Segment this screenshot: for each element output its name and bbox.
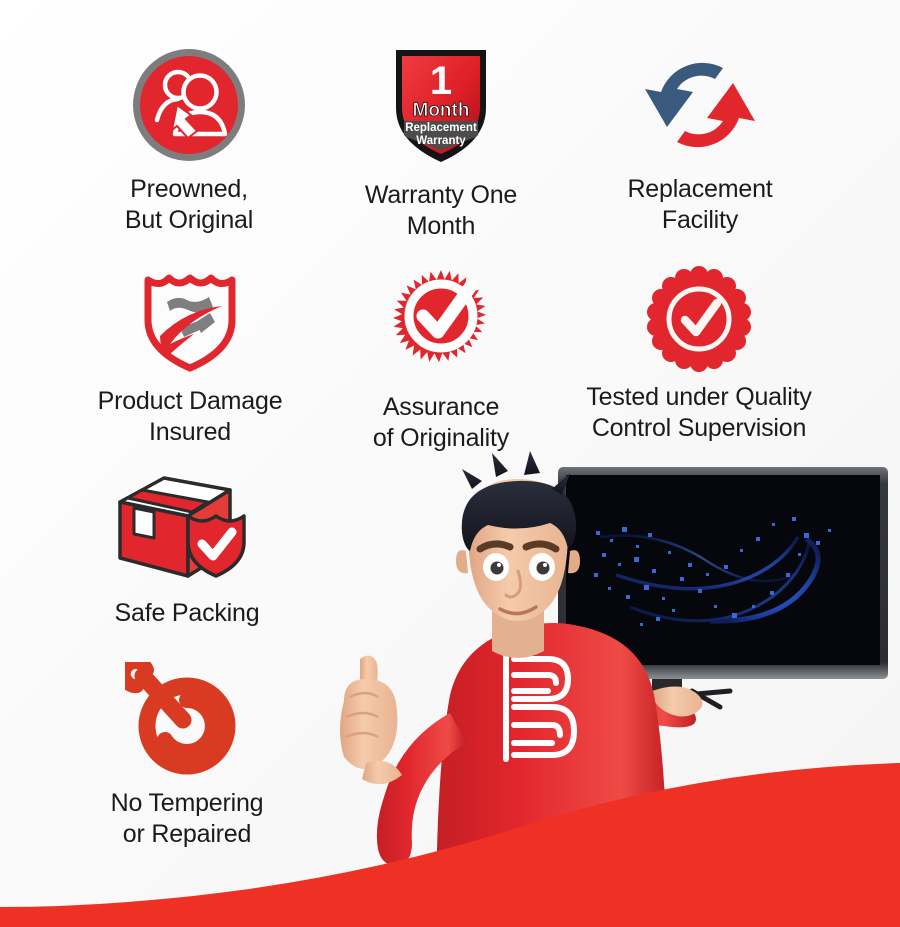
feature-tested: Tested under Quality Control Supervision — [572, 266, 826, 444]
infographic-poster: Preowned, But Original 1 Mont — [0, 0, 900, 927]
warranty-line1: Replacement — [405, 122, 477, 134]
warranty-line2: Warranty — [416, 135, 466, 147]
box-shield-check-icon — [112, 472, 262, 588]
feature-packing: Safe Packing — [84, 472, 290, 629]
feature-label: Safe Packing — [115, 598, 260, 629]
feature-label: Replacement Facility — [627, 174, 772, 236]
feature-label: Preowned, But Original — [125, 174, 253, 236]
feature-warranty: 1 Month Replacement Warranty Warranty On… — [330, 42, 552, 242]
feature-label: No Tempering or Repaired — [111, 788, 264, 850]
feature-label: Tested under Quality Control Supervision — [586, 382, 811, 444]
feature-label: Product Damage Insured — [98, 386, 283, 448]
damaged-shield-icon — [134, 264, 246, 376]
warranty-number: 1 — [430, 59, 452, 103]
feature-label: Warranty One Month — [365, 180, 517, 242]
feature-assurance: Assurance of Originality — [334, 266, 548, 454]
feature-damage: Product Damage Insured — [66, 264, 314, 448]
hero-scene — [300, 445, 900, 927]
feature-tempering: No Tempering or Repaired — [78, 662, 296, 850]
feature-preowned: Preowned, But Original — [74, 46, 304, 236]
seal-check-icon — [646, 266, 752, 372]
warranty-period: Month — [413, 100, 470, 121]
feature-replacement: Replacement Facility — [580, 46, 820, 236]
replacement-arrows-icon — [635, 46, 765, 164]
no-wrench-prohibited-icon — [125, 662, 249, 778]
pointing-hand — [340, 655, 397, 769]
preowned-user-arrow-icon — [130, 46, 248, 164]
starburst-check-icon — [383, 266, 499, 382]
warranty-shield-badge-icon: 1 Month Replacement Warranty — [386, 42, 496, 170]
